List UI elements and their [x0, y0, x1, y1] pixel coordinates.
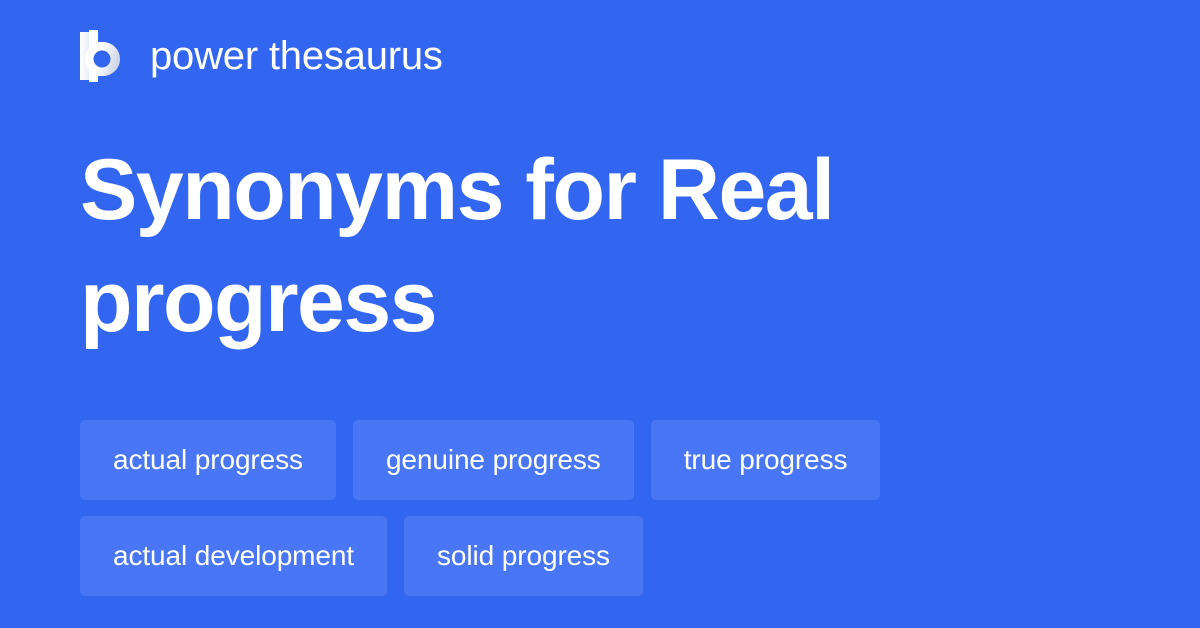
brand-name: power thesaurus: [150, 34, 443, 78]
synonym-chip[interactable]: solid progress: [404, 516, 643, 596]
synonym-chip[interactable]: actual development: [80, 516, 387, 596]
synonym-chip[interactable]: true progress: [651, 420, 881, 500]
synonyms-preview-card: power thesaurus Synonyms for Real progre…: [0, 0, 1200, 628]
synonym-chip[interactable]: genuine progress: [353, 420, 634, 500]
synonym-chip[interactable]: actual progress: [80, 420, 336, 500]
power-thesaurus-b-logo-icon: [80, 30, 128, 82]
synonym-chip-list: actual progress genuine progress true pr…: [80, 420, 1140, 596]
brand-logo[interactable]: power thesaurus: [80, 28, 443, 84]
page-title: Synonyms for Real progress: [80, 134, 920, 358]
